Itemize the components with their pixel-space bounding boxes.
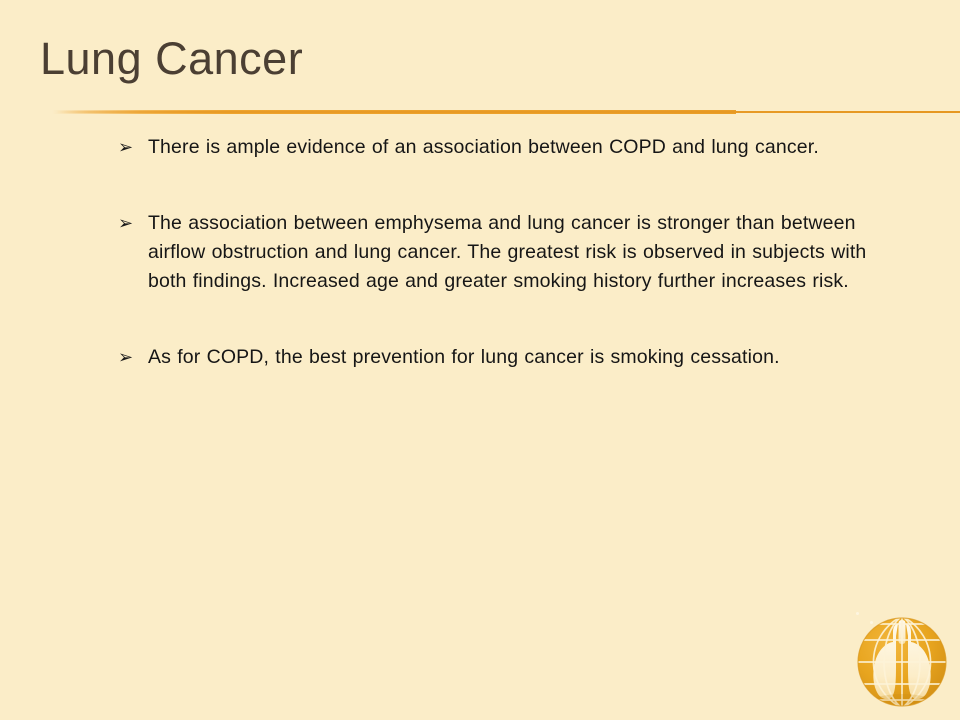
list-item-text: As for COPD, the best prevention for lun… (148, 343, 900, 372)
title-divider (0, 110, 960, 114)
page-title: Lung Cancer (40, 34, 303, 84)
sparkle-icon (856, 612, 859, 615)
slide: Lung Cancer ➢ There is ample evidence of… (0, 0, 960, 720)
list-item-text: The association between emphysema and lu… (148, 209, 900, 296)
sparkle-icon (870, 621, 873, 624)
arrow-bullet-icon: ➢ (118, 343, 133, 372)
list-item: ➢ There is ample evidence of an associat… (110, 133, 900, 162)
list-item: ➢ As for COPD, the best prevention for l… (110, 343, 900, 372)
list-item: ➢ The association between emphysema and … (110, 209, 900, 296)
list-item-text: There is ample evidence of an associatio… (148, 133, 900, 162)
logo-sparkles (852, 608, 892, 634)
title-divider-thin (0, 111, 960, 113)
bullet-list: ➢ There is ample evidence of an associat… (110, 133, 900, 372)
arrow-bullet-icon: ➢ (118, 133, 133, 162)
arrow-bullet-icon: ➢ (118, 209, 133, 238)
title-area: Lung Cancer (0, 34, 960, 112)
